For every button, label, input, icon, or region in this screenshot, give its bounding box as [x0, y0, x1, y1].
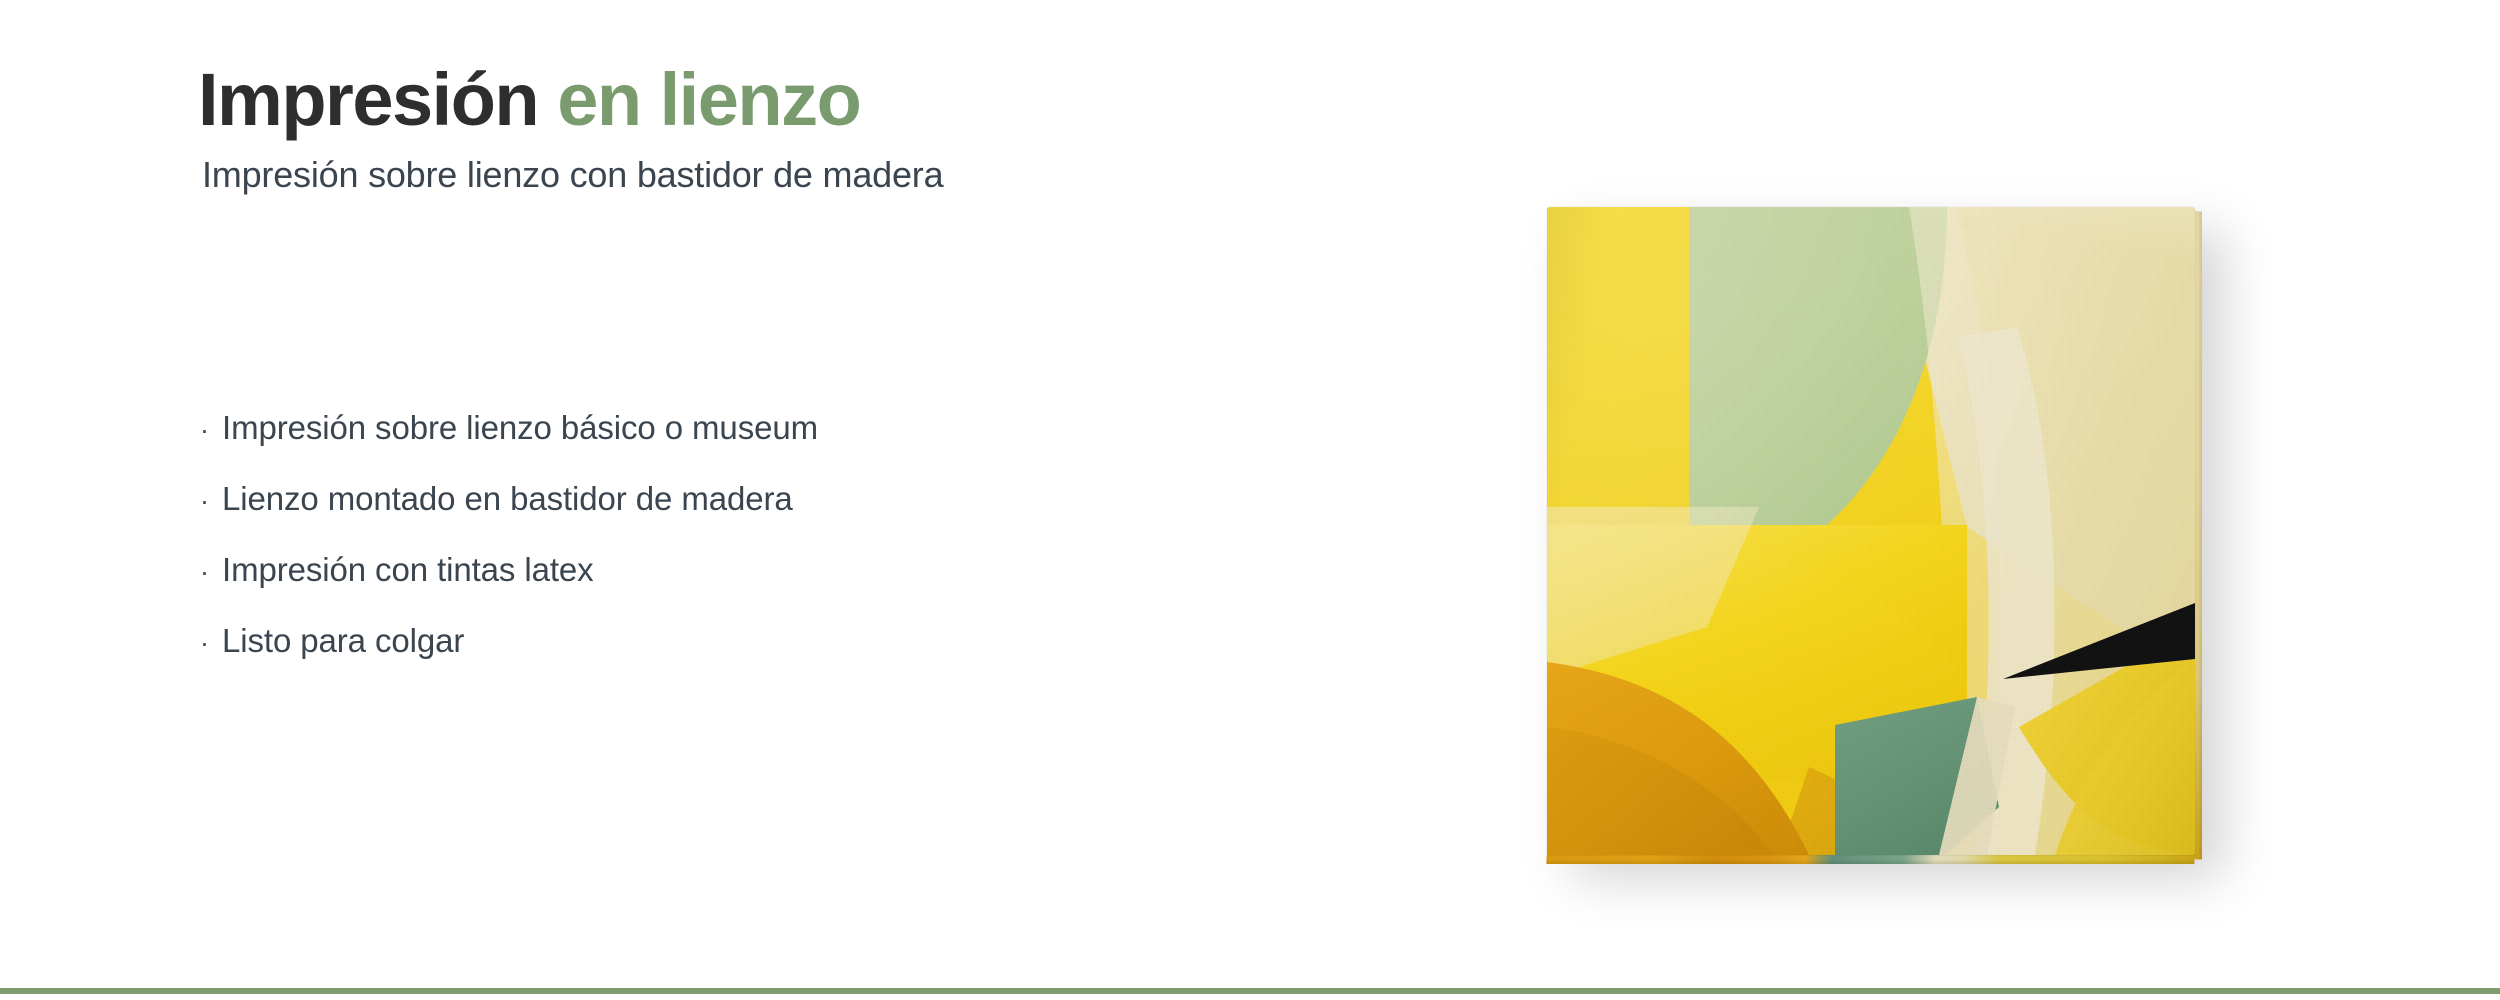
page-title-primary: Impresión [198, 58, 538, 141]
list-item: · Listo para colgar [200, 605, 1350, 676]
footer-divider [0, 988, 2500, 994]
list-item: · Impresión con tintas latex [200, 534, 1350, 605]
page-title-accent: en lienzo [557, 58, 860, 141]
canvas-artwork [1547, 207, 2195, 855]
bullet-icon: · [200, 608, 222, 679]
text-column: Impresión en lienzo Impresión sobre lien… [198, 62, 1378, 197]
list-item-label: Lienzo montado en bastidor de madera [222, 463, 793, 534]
canvas-print-mockup [1500, 165, 2260, 925]
list-item-label: Impresión con tintas latex [222, 534, 594, 605]
bullet-icon: · [200, 466, 222, 537]
page-title: Impresión en lienzo [198, 62, 1378, 137]
product-feature-slide: Impresión en lienzo Impresión sobre lien… [0, 0, 2500, 1000]
list-item-label: Listo para colgar [222, 605, 464, 676]
list-item: · Impresión sobre lienzo básico o museum [200, 392, 1350, 463]
bullet-icon: · [200, 537, 222, 608]
artwork-highlight-left [1547, 207, 1689, 525]
list-item: · Lienzo montado en bastidor de madera [200, 463, 1350, 534]
page-subtitle: Impresión sobre lienzo con bastidor de m… [202, 153, 1378, 196]
list-item-label: Impresión sobre lienzo básico o museum [222, 392, 818, 463]
bullet-icon: · [200, 395, 222, 466]
abstract-artwork-svg [1547, 207, 2195, 855]
feature-list: · Impresión sobre lienzo básico o museum… [200, 392, 1350, 676]
